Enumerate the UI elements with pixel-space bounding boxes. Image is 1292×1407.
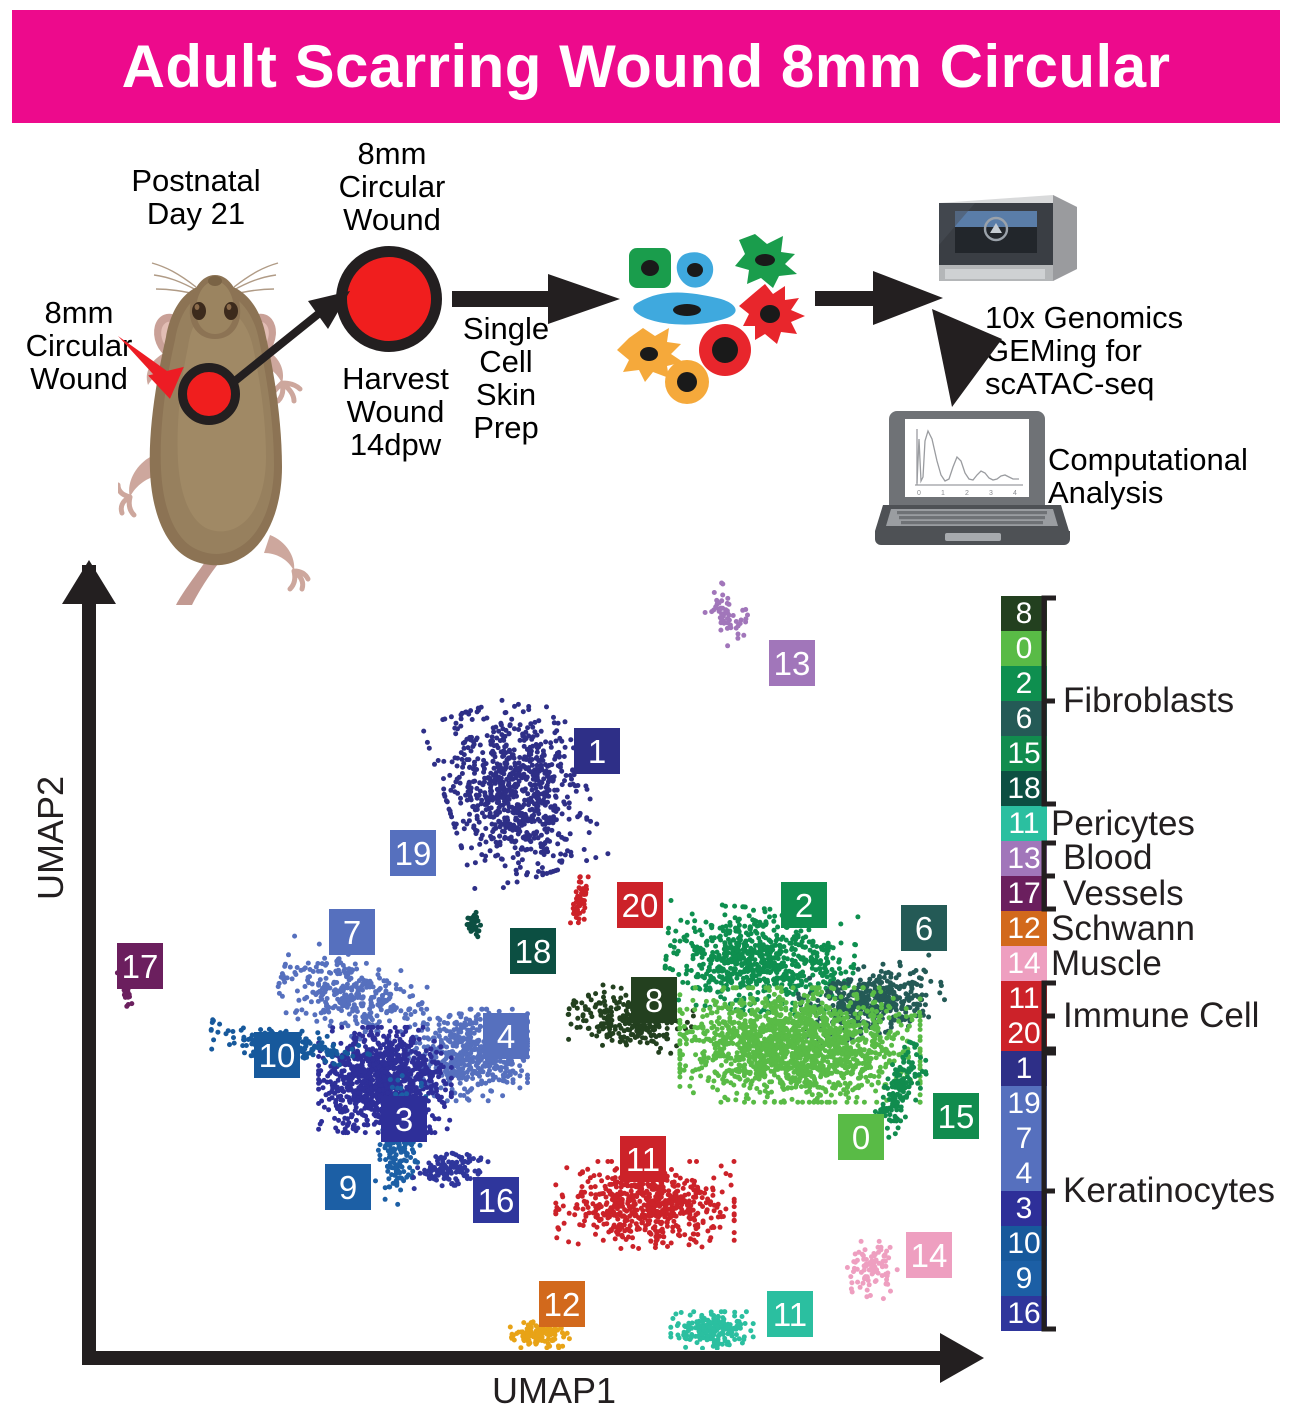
- laptop-plot-tick-0: 0: [917, 490, 921, 497]
- umap-cluster-label-11b: 11: [767, 1291, 813, 1337]
- umap-cluster-label-6: 6: [901, 905, 947, 951]
- umap-cluster-label-12: 12: [539, 1281, 585, 1327]
- umap-y-axis: [82, 565, 96, 1365]
- arrow-to-computational-analysis: [930, 305, 1005, 410]
- legend-brackets: [1040, 580, 1100, 1380]
- umap-cluster-label-1: 1: [574, 728, 620, 774]
- label-wound-big: 8mm Circular Wound: [312, 138, 472, 237]
- umap-cluster-label-15: 15: [933, 1093, 979, 1139]
- umap-cluster-label-17: 17: [117, 943, 163, 989]
- umap-cluster-label-19: 19: [390, 830, 436, 876]
- laptop-plot-tick-1: 1: [941, 490, 945, 497]
- label-postnatal-day: Postnatal Day 21: [106, 165, 286, 231]
- umap-cluster-label-10: 10: [254, 1032, 300, 1078]
- single-cell-suspension-illustration: [615, 230, 825, 405]
- umap-cluster-label-13: 13: [769, 640, 815, 686]
- arrow-mouse-to-wound: [222, 285, 352, 395]
- umap-cluster-label-0: 0: [838, 1114, 884, 1160]
- umap-y-axis-label: UMAP2: [30, 776, 72, 900]
- umap-cluster-label-2: 2: [781, 882, 827, 928]
- umap-cluster-label-20: 20: [617, 882, 663, 928]
- umap-cluster-label-8: 8: [631, 977, 677, 1023]
- umap-cluster-label-14: 14: [906, 1232, 952, 1278]
- label-computational-analysis: Computational Analysis: [1048, 444, 1278, 510]
- figure-canvas: Adult Scarring Wound 8mm Circular Postna…: [0, 0, 1292, 1407]
- laptop-plot-tick-3: 3: [989, 490, 993, 497]
- figure-title-banner: Adult Scarring Wound 8mm Circular: [12, 10, 1280, 123]
- umap-cluster-label-9: 9: [325, 1164, 371, 1210]
- sequencer-machine-icon: [925, 185, 1080, 295]
- red-pointer-arrow: [116, 330, 206, 400]
- umap-cluster-label-7: 7: [329, 909, 375, 955]
- umap-x-axis-label: UMAP1: [492, 1370, 616, 1407]
- umap-cluster-label-16: 16: [473, 1177, 519, 1223]
- page-title: Adult Scarring Wound 8mm Circular: [122, 32, 1171, 101]
- umap-cluster-label-18: 18: [510, 928, 556, 974]
- umap-x-axis: [82, 1351, 962, 1365]
- umap-cluster-label-11: 11: [620, 1136, 666, 1182]
- arrow-to-single-cell-prep: [452, 268, 622, 338]
- laptop-plot-tick-2: 2: [965, 490, 969, 497]
- umap-cluster-label-4: 4: [483, 1013, 529, 1059]
- laptop-icon: 0 1 2 3 4: [875, 405, 1070, 550]
- laptop-plot-tick-4: 4: [1013, 490, 1017, 497]
- umap-cluster-label-3: 3: [381, 1096, 427, 1142]
- label-geming: 10x Genomics GEMing for scATAC-seq: [985, 302, 1235, 401]
